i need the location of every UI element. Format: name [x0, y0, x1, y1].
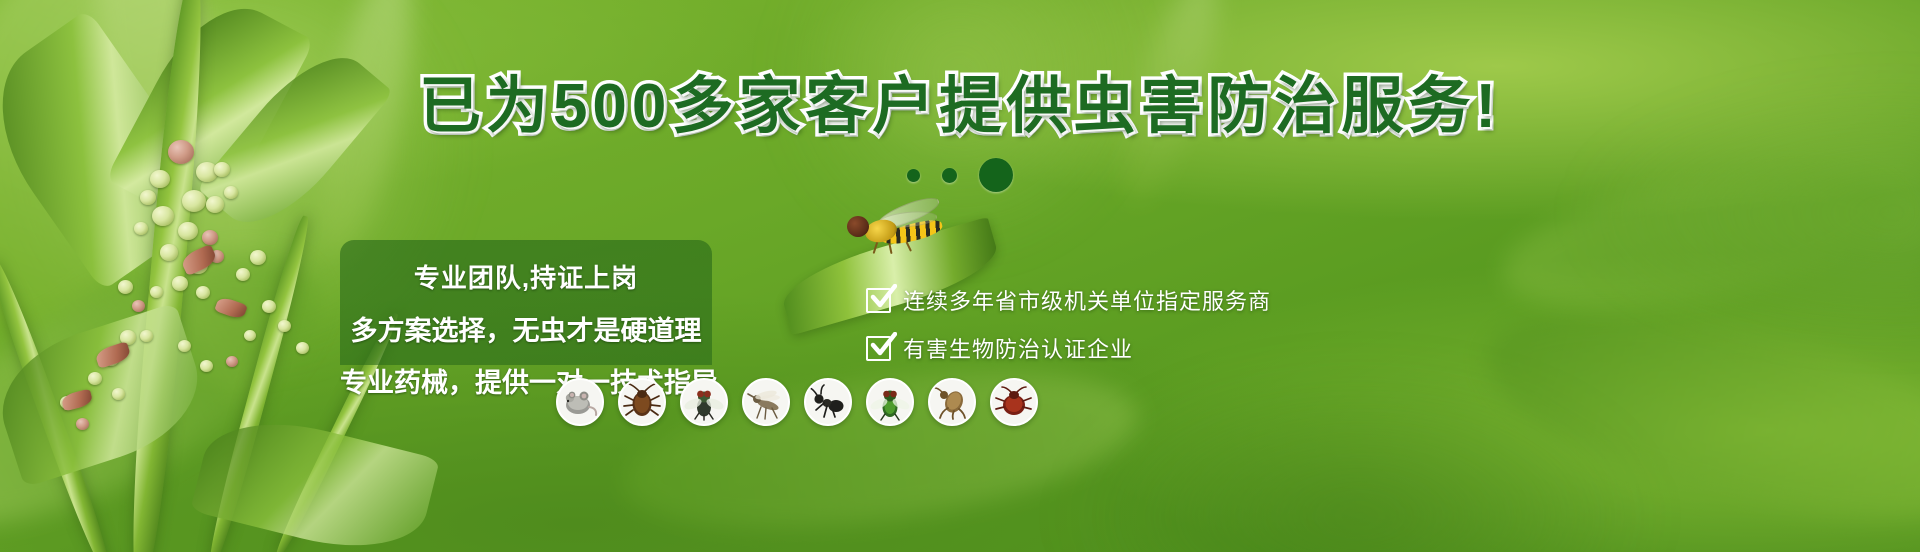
- decorative-dot-large: [979, 158, 1013, 192]
- flower-bud: [112, 388, 125, 400]
- checkbox-check-icon: [866, 288, 891, 313]
- flower-bud: [278, 320, 291, 332]
- flower-bud: [226, 356, 238, 367]
- decorative-dot-small: [907, 169, 920, 182]
- flower-bud: [196, 286, 210, 299]
- flea-icon[interactable]: [928, 378, 976, 426]
- flower-bud: [172, 276, 188, 291]
- flower-bud: [134, 222, 148, 235]
- cockroach-icon[interactable]: [618, 378, 666, 426]
- flower-bud: [178, 340, 191, 352]
- highlight-line-2: 多方案选择，无虫才是硬道理: [340, 309, 712, 348]
- mosquito-icon[interactable]: [742, 378, 790, 426]
- checklist-item-label: 有害生物防治认证企业: [903, 332, 1133, 364]
- flower-bract: [214, 295, 248, 320]
- fly-icon[interactable]: [680, 378, 728, 426]
- banner-headline-text: 已为500多家客户提供虫害防治服务!: [419, 76, 1501, 138]
- flower-bud: [182, 190, 206, 212]
- flower-bud: [250, 250, 266, 265]
- highlight-line-1: 专业团队,持证上岗: [340, 258, 712, 295]
- flower-bud: [200, 360, 213, 372]
- pest-type-icon-row: [556, 378, 1038, 426]
- flower-bud: [88, 372, 102, 385]
- flower-bud: [160, 244, 178, 261]
- checklist-item: 有害生物防治认证企业: [866, 324, 1346, 372]
- plant-leaf: [0, 302, 215, 487]
- flower-bud: [178, 222, 198, 240]
- green-fly-icon[interactable]: [866, 378, 914, 426]
- flower-bud: [150, 286, 163, 298]
- checkbox-check-icon: [866, 336, 891, 361]
- ant-icon[interactable]: [804, 378, 852, 426]
- decorative-dot-medium: [942, 168, 957, 183]
- flower-bud: [140, 330, 153, 342]
- checklist-item: 连续多年省市级机关单位指定服务商: [866, 276, 1346, 324]
- insect-head: [847, 216, 869, 237]
- service-highlights-panel: 专业团队,持证上岗 多方案选择，无虫才是硬道理 专业药械，提供一对一技术指导: [340, 240, 712, 365]
- credentials-checklist: 连续多年省市级机关单位指定服务商 有害生物防治认证企业: [866, 276, 1346, 372]
- flower-bud: [236, 268, 250, 281]
- rodent-icon[interactable]: [556, 378, 604, 426]
- hoverfly-insect: [845, 200, 955, 252]
- flower-bud: [202, 230, 218, 245]
- flower-bud: [132, 300, 145, 312]
- flower-bud: [118, 280, 133, 294]
- banner-headline: 已为500多家客户提供虫害防治服务!: [0, 76, 1920, 138]
- decorative-dot-group: [0, 158, 1920, 192]
- bedbug-icon[interactable]: [990, 378, 1038, 426]
- flower-bud: [244, 330, 256, 341]
- flower-bud: [140, 190, 156, 205]
- checklist-item-label: 连续多年省市级机关单位指定服务商: [903, 284, 1271, 316]
- flower-bud: [296, 342, 309, 354]
- flower-bud: [76, 418, 89, 430]
- flower-bud: [206, 196, 224, 213]
- flower-bud: [262, 300, 276, 313]
- pest-control-hero-banner: 已为500多家客户提供虫害防治服务! 专业团队,持证上岗 多方案选择，无虫才是硬…: [0, 0, 1920, 552]
